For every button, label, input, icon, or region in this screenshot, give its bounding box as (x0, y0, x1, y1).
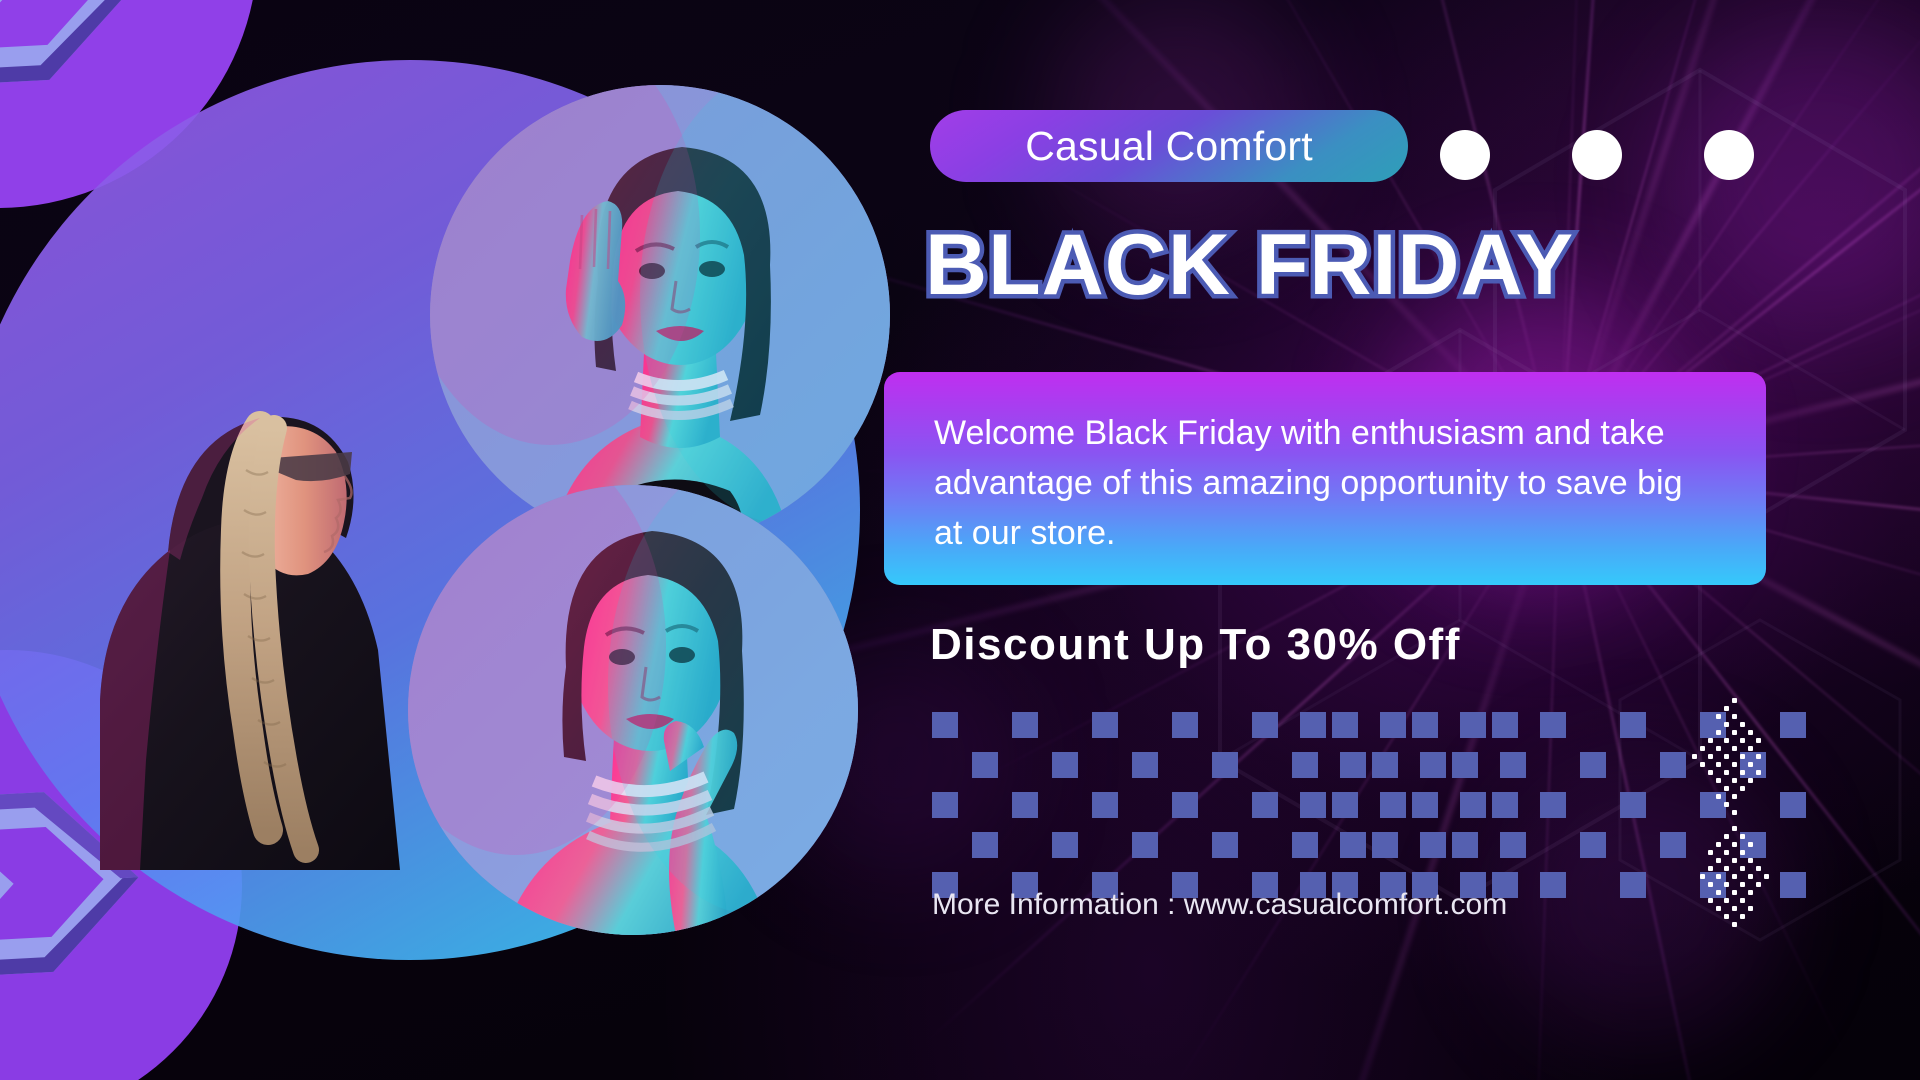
halftone-dot (1740, 802, 1745, 807)
halftone-dot (1732, 762, 1737, 767)
halftone-dot (1740, 898, 1745, 903)
halftone-row (1668, 778, 1804, 786)
halftone-dot (1748, 906, 1753, 911)
halftone-dot (1692, 914, 1697, 919)
halftone-dot (1668, 866, 1673, 871)
checker-cell (1620, 792, 1646, 818)
halftone-dot (1668, 754, 1673, 759)
halftone-dot (1796, 834, 1801, 839)
halftone-row (1668, 890, 1804, 898)
description-panel: Welcome Black Friday with enthusiasm and… (884, 372, 1766, 585)
checker-cell (1420, 792, 1446, 818)
halftone-dot (1684, 874, 1689, 879)
halftone-dot (1700, 898, 1705, 903)
checker-cell (1132, 752, 1158, 778)
halftone-dot (1748, 802, 1753, 807)
halftone-dot (1740, 858, 1745, 863)
halftone-dot (1724, 834, 1729, 839)
halftone-dot (1748, 834, 1753, 839)
halftone-dot (1692, 842, 1697, 847)
halftone-dot (1676, 834, 1681, 839)
halftone-dot (1780, 930, 1785, 935)
halftone-dot (1796, 730, 1801, 735)
halftone-row (1668, 746, 1804, 754)
halftone-dot (1708, 890, 1713, 895)
checker-cell (1500, 832, 1526, 858)
halftone-dot (1764, 922, 1769, 927)
halftone-dot (1772, 714, 1777, 719)
checker-cell (1300, 752, 1326, 778)
checker-cell (1420, 832, 1446, 858)
halftone-dot (1740, 850, 1745, 855)
halftone-dot (1716, 738, 1721, 743)
halftone-dot (1756, 858, 1761, 863)
checker-cell (932, 792, 958, 818)
halftone-dot (1724, 882, 1729, 887)
checker-cell (1460, 832, 1486, 858)
halftone-dot (1796, 738, 1801, 743)
halftone-dot (1772, 730, 1777, 735)
checker-cell (1092, 712, 1118, 738)
halftone-dot (1764, 914, 1769, 919)
halftone-dot (1764, 906, 1769, 911)
halftone-dot (1732, 698, 1737, 703)
halftone-dot (1772, 906, 1777, 911)
halftone-dot (1708, 762, 1713, 767)
halftone-dot (1772, 818, 1777, 823)
halftone-dot (1708, 922, 1713, 927)
halftone-dot (1668, 698, 1673, 703)
halftone-dot (1676, 818, 1681, 823)
halftone-dot (1796, 762, 1801, 767)
halftone-dot (1772, 922, 1777, 927)
halftone-row (1668, 738, 1804, 746)
halftone-dot (1732, 714, 1737, 719)
halftone-dot (1756, 906, 1761, 911)
halftone-dot (1748, 882, 1753, 887)
halftone-dot (1748, 890, 1753, 895)
checker-cell (1052, 792, 1078, 818)
halftone-dot (1724, 898, 1729, 903)
halftone-dot (1692, 802, 1697, 807)
chevron-arrow-icon (0, 0, 139, 87)
halftone-dot (1716, 914, 1721, 919)
halftone-dot (1764, 930, 1769, 935)
halftone-dot (1764, 722, 1769, 727)
halftone-dot (1796, 698, 1801, 703)
halftone-row (1668, 714, 1804, 722)
halftone-dot (1716, 794, 1721, 799)
halftone-dot (1756, 898, 1761, 903)
halftone-dot (1732, 842, 1737, 847)
halftone-row (1668, 818, 1804, 826)
halftone-dot (1724, 890, 1729, 895)
halftone-dot (1772, 826, 1777, 831)
halftone-dot (1780, 898, 1785, 903)
halftone-dot (1724, 794, 1729, 799)
halftone-dot (1796, 754, 1801, 759)
halftone-dot (1692, 930, 1697, 935)
halftone-dot (1676, 706, 1681, 711)
halftone-dot (1740, 786, 1745, 791)
halftone-row (1668, 874, 1804, 882)
halftone-dot (1724, 914, 1729, 919)
halftone-dot (1692, 714, 1697, 719)
halftone-dot (1732, 754, 1737, 759)
halftone-dot (1764, 802, 1769, 807)
halftone-row (1668, 898, 1804, 906)
halftone-dot (1700, 858, 1705, 863)
halftone-row (1668, 850, 1804, 858)
halftone-dot (1764, 842, 1769, 847)
halftone-dot (1772, 770, 1777, 775)
halftone-dot (1772, 754, 1777, 759)
halftone-dot (1772, 722, 1777, 727)
halftone-dot (1684, 746, 1689, 751)
halftone-dot (1732, 906, 1737, 911)
halftone-dot (1772, 802, 1777, 807)
halftone-dot (1700, 834, 1705, 839)
halftone-dot (1708, 706, 1713, 711)
halftone-dot (1684, 842, 1689, 847)
checker-cell (972, 832, 998, 858)
halftone-dot (1756, 810, 1761, 815)
halftone-dot (1692, 906, 1697, 911)
checker-cell (1620, 752, 1646, 778)
halftone-dot (1780, 866, 1785, 871)
halftone-dot (1740, 818, 1745, 823)
halftone-dot (1716, 850, 1721, 855)
halftone-dot (1740, 714, 1745, 719)
checker-cell (1580, 872, 1606, 898)
checker-cell (1092, 752, 1118, 778)
halftone-dot (1708, 754, 1713, 759)
halftone-row (1668, 698, 1804, 706)
checker-cell (1380, 792, 1406, 818)
halftone-dot (1788, 762, 1793, 767)
halftone-dot (1692, 770, 1697, 775)
halftone-dot (1676, 922, 1681, 927)
halftone-dot (1748, 738, 1753, 743)
halftone-dot (1764, 874, 1769, 879)
halftone-dot (1692, 778, 1697, 783)
checker-cell (972, 752, 998, 778)
halftone-dot (1708, 874, 1713, 879)
halftone-dot (1732, 882, 1737, 887)
checker-cell (1620, 832, 1646, 858)
halftone-dot (1716, 730, 1721, 735)
halftone-dot (1764, 714, 1769, 719)
halftone-dot (1716, 882, 1721, 887)
halftone-dot (1716, 770, 1721, 775)
halftone-dot (1788, 706, 1793, 711)
halftone-dot (1724, 802, 1729, 807)
halftone-dot (1716, 746, 1721, 751)
halftone-dot (1740, 874, 1745, 879)
halftone-dot (1740, 930, 1745, 935)
halftone-dot (1788, 890, 1793, 895)
halftone-dot (1772, 914, 1777, 919)
description-text: Welcome Black Friday with enthusiasm and… (934, 408, 1694, 558)
halftone-dot (1748, 770, 1753, 775)
checker-cell (1092, 832, 1118, 858)
halftone-dot (1740, 826, 1745, 831)
halftone-dot (1756, 714, 1761, 719)
halftone-dot (1708, 770, 1713, 775)
halftone-dot (1764, 810, 1769, 815)
checker-cell (1300, 832, 1326, 858)
halftone-dot (1732, 898, 1737, 903)
halftone-dot (1796, 802, 1801, 807)
halftone-dot (1748, 914, 1753, 919)
halftone-dot (1700, 706, 1705, 711)
halftone-dot (1772, 842, 1777, 847)
halftone-row (1668, 842, 1804, 850)
halftone-dot (1700, 714, 1705, 719)
halftone-dot (1668, 706, 1673, 711)
halftone-dot (1668, 906, 1673, 911)
halftone-dot (1756, 786, 1761, 791)
halftone-dot (1684, 850, 1689, 855)
halftone-dot (1684, 866, 1689, 871)
halftone-dot (1684, 922, 1689, 927)
checker-cell (1460, 752, 1486, 778)
halftone-dot (1764, 778, 1769, 783)
halftone-dot (1708, 930, 1713, 935)
checker-cell (1380, 712, 1406, 738)
halftone-dot (1756, 746, 1761, 751)
halftone-dot (1724, 722, 1729, 727)
checker-cell (1340, 712, 1366, 738)
halftone-dot (1796, 850, 1801, 855)
halftone-dot (1764, 786, 1769, 791)
banner-canvas: Casual Comfort BLACK FRIDAY Welcome Blac… (0, 0, 1920, 1080)
halftone-dot (1756, 794, 1761, 799)
checker-cell (1052, 712, 1078, 738)
checker-cell (1580, 712, 1606, 738)
halftone-dot (1692, 858, 1697, 863)
checker-cell (932, 752, 958, 778)
halftone-dot (1756, 890, 1761, 895)
halftone-dot (1708, 722, 1713, 727)
halftone-dot (1756, 826, 1761, 831)
halftone-dot (1668, 794, 1673, 799)
halftone-dot (1724, 698, 1729, 703)
halftone-dot (1772, 866, 1777, 871)
halftone-dot (1676, 778, 1681, 783)
halftone-dot (1780, 794, 1785, 799)
halftone-dot (1788, 754, 1793, 759)
halftone-dot (1788, 898, 1793, 903)
halftone-dot (1780, 786, 1785, 791)
halftone-dot (1692, 890, 1697, 895)
halftone-dot (1796, 714, 1801, 719)
checker-cell (1172, 792, 1198, 818)
halftone-dot (1668, 786, 1673, 791)
halftone-dot (1708, 738, 1713, 743)
halftone-dot (1668, 818, 1673, 823)
halftone-dot (1708, 714, 1713, 719)
halftone-dot (1732, 890, 1737, 895)
halftone-dot (1772, 890, 1777, 895)
halftone-dot (1708, 730, 1713, 735)
halftone-dot (1780, 698, 1785, 703)
halftone-dot (1684, 762, 1689, 767)
halftone-dot (1764, 898, 1769, 903)
halftone-dot (1700, 874, 1705, 879)
halftone-dot (1780, 906, 1785, 911)
halftone-dot (1668, 778, 1673, 783)
halftone-dot (1780, 746, 1785, 751)
halftone-dot (1716, 706, 1721, 711)
halftone-dot (1780, 834, 1785, 839)
halftone-dot (1764, 746, 1769, 751)
halftone-dot (1708, 746, 1713, 751)
halftone-dot (1684, 706, 1689, 711)
halftone-dot (1676, 906, 1681, 911)
halftone-dot (1748, 818, 1753, 823)
checker-cell (972, 712, 998, 738)
halftone-dot (1740, 706, 1745, 711)
halftone-dot (1780, 858, 1785, 863)
halftone-dot (1764, 762, 1769, 767)
halftone-dot (1748, 706, 1753, 711)
halftone-dot (1796, 898, 1801, 903)
halftone-dot (1772, 698, 1777, 703)
halftone-dot (1732, 802, 1737, 807)
halftone-dot (1740, 722, 1745, 727)
halftone-dot (1692, 698, 1697, 703)
halftone-dot (1716, 802, 1721, 807)
halftone-dot (1740, 738, 1745, 743)
halftone-dot (1732, 738, 1737, 743)
halftone-dot (1692, 738, 1697, 743)
halftone-dot (1748, 866, 1753, 871)
halftone-dot (1692, 706, 1697, 711)
decor-dot-3 (1704, 130, 1754, 180)
halftone-dot (1708, 898, 1713, 903)
checker-cell (1540, 832, 1566, 858)
halftone-dot (1684, 834, 1689, 839)
halftone-dot (1684, 770, 1689, 775)
halftone-dot (1708, 858, 1713, 863)
halftone-dot (1732, 922, 1737, 927)
halftone-dot (1740, 906, 1745, 911)
halftone-dot (1756, 922, 1761, 927)
halftone-dot (1684, 882, 1689, 887)
halftone-dot (1756, 874, 1761, 879)
halftone-dot (1684, 810, 1689, 815)
halftone-dot (1716, 786, 1721, 791)
halftone-dot (1740, 834, 1745, 839)
halftone-dot (1780, 730, 1785, 735)
halftone-dot (1788, 874, 1793, 879)
checker-cell (1012, 752, 1038, 778)
halftone-dot (1668, 890, 1673, 895)
halftone-dot (1772, 834, 1777, 839)
halftone-dot (1716, 818, 1721, 823)
halftone-dot (1684, 930, 1689, 935)
halftone-dot (1700, 762, 1705, 767)
halftone-dot (1676, 898, 1681, 903)
halftone-dot (1780, 874, 1785, 879)
halftone-dot (1724, 818, 1729, 823)
halftone-dot (1756, 770, 1761, 775)
halftone-dot (1748, 794, 1753, 799)
halftone-dot (1708, 802, 1713, 807)
halftone-dot (1732, 866, 1737, 871)
checker-cell (1540, 712, 1566, 738)
halftone-dot (1772, 898, 1777, 903)
halftone-dot (1716, 722, 1721, 727)
halftone-dot (1684, 914, 1689, 919)
checker-cell (1380, 832, 1406, 858)
halftone-row (1668, 914, 1804, 922)
halftone-dot (1788, 866, 1793, 871)
halftone-dot (1716, 754, 1721, 759)
halftone-dot (1796, 914, 1801, 919)
halftone-dot (1780, 890, 1785, 895)
halftone-dot (1764, 858, 1769, 863)
checker-cell (1172, 712, 1198, 738)
halftone-dot (1764, 826, 1769, 831)
checker-cell (1172, 752, 1198, 778)
halftone-dot (1748, 786, 1753, 791)
halftone-dot (1756, 850, 1761, 855)
halftone-dot (1780, 882, 1785, 887)
checker-cell (1620, 872, 1646, 898)
halftone-dot (1692, 754, 1697, 759)
halftone-dot (1684, 898, 1689, 903)
halftone-dot (1668, 722, 1673, 727)
halftone-dot (1708, 698, 1713, 703)
halftone-dot (1764, 698, 1769, 703)
halftone-dot (1756, 738, 1761, 743)
halftone-dot (1684, 794, 1689, 799)
halftone-dot (1764, 770, 1769, 775)
halftone-dot (1780, 818, 1785, 823)
brand-badge[interactable]: Casual Comfort (930, 110, 1408, 182)
halftone-dot (1788, 722, 1793, 727)
halftone-dot (1780, 842, 1785, 847)
halftone-row (1668, 762, 1804, 770)
halftone-row (1668, 802, 1804, 810)
checker-cell (1580, 792, 1606, 818)
halftone-dot (1716, 874, 1721, 879)
halftone-row (1668, 770, 1804, 778)
halftone-dot (1684, 714, 1689, 719)
halftone-dot (1788, 850, 1793, 855)
halftone-dot (1772, 778, 1777, 783)
halftone-dot (1692, 826, 1697, 831)
halftone-dot (1756, 866, 1761, 871)
halftone-dot (1748, 858, 1753, 863)
halftone-dot (1692, 882, 1697, 887)
halftone-dot (1780, 738, 1785, 743)
halftone-dot (1796, 794, 1801, 799)
halftone-dot (1700, 794, 1705, 799)
halftone-dot (1740, 746, 1745, 751)
halftone-dot (1692, 730, 1697, 735)
halftone-dot (1668, 874, 1673, 879)
halftone-dot (1740, 730, 1745, 735)
halftone-dot (1708, 778, 1713, 783)
halftone-dot (1788, 882, 1793, 887)
halftone-dot (1684, 818, 1689, 823)
brand-badge-label: Casual Comfort (1025, 123, 1313, 170)
halftone-dot (1708, 914, 1713, 919)
halftone-row (1668, 834, 1804, 842)
